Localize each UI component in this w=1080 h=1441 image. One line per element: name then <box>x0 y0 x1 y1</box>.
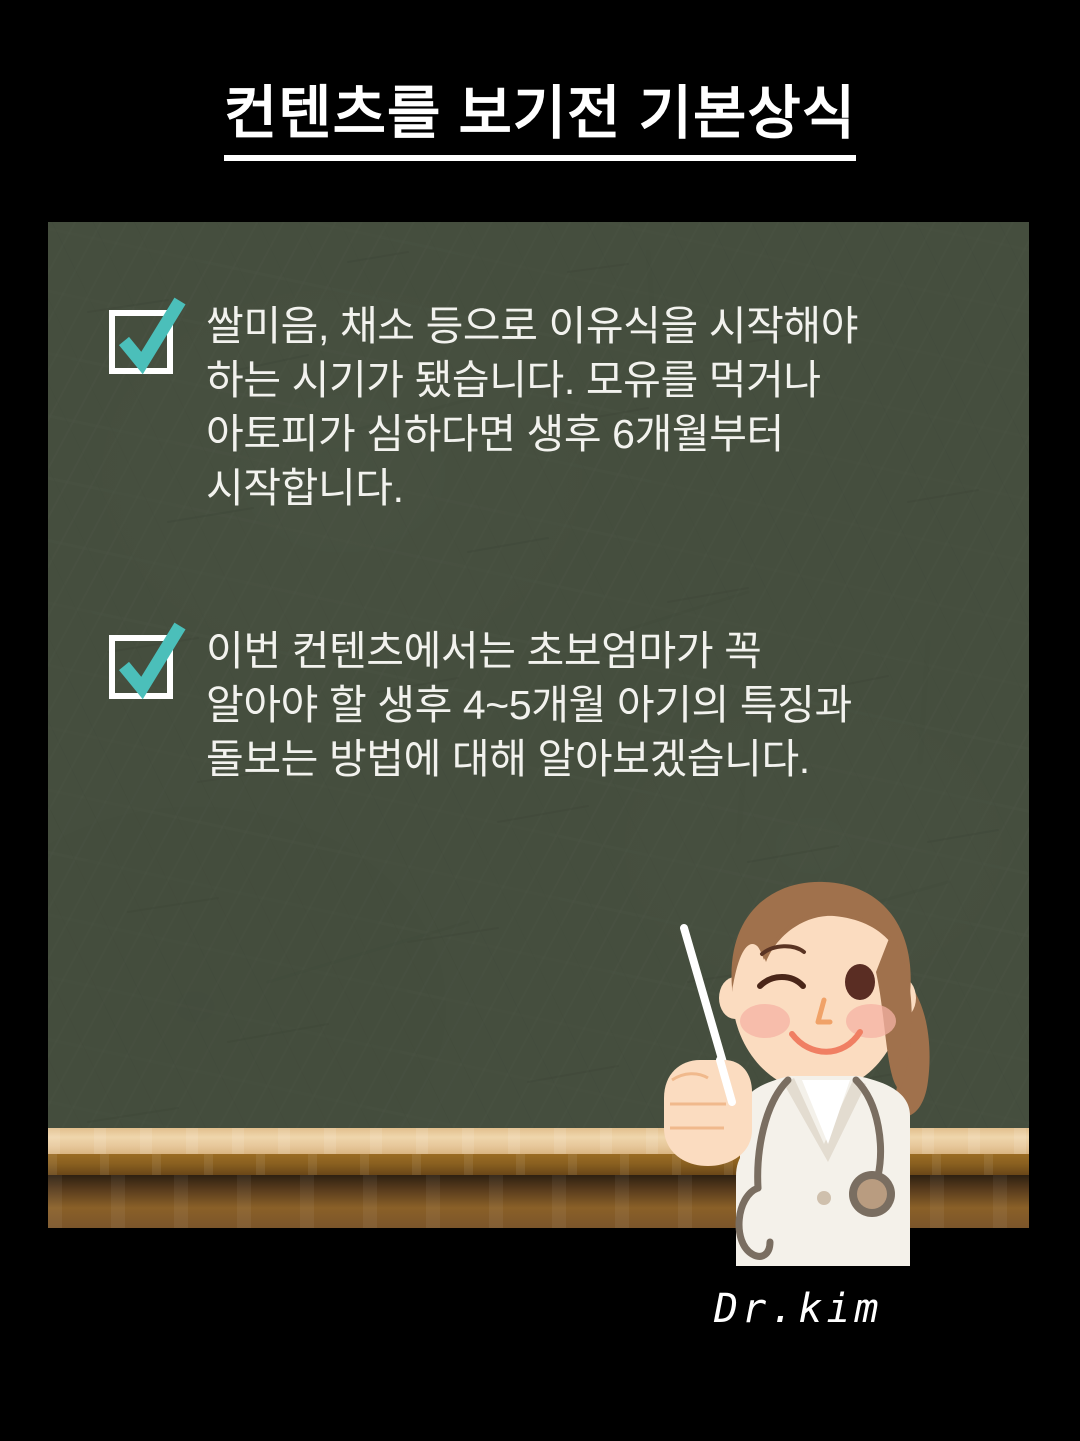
page-title-container: 컨텐츠를 보기전 기본상식 <box>0 84 1080 161</box>
list-item-text: 이번 컨텐츠에서는 초보엄마가 꼭 알아야 할 생후 4~5개월 아기의 특징과… <box>206 622 852 786</box>
eye-right <box>845 964 875 1000</box>
signature: Dr.kim <box>714 1274 944 1342</box>
doctor-character <box>628 876 958 1266</box>
stethoscope-diaphragm <box>857 1179 887 1209</box>
blush-right <box>846 1004 896 1038</box>
pointer-stick <box>684 928 724 1066</box>
blush-left <box>740 1004 790 1038</box>
checkbox-checked-icon <box>108 303 186 375</box>
coat-button <box>817 1191 831 1205</box>
list-item: 이번 컨텐츠에서는 초보엄마가 꼭 알아야 할 생후 4~5개월 아기의 특징과… <box>108 622 852 786</box>
checkbox-checked-icon <box>108 628 186 700</box>
signature-text: Dr.kim <box>713 1286 883 1332</box>
list-item-text: 쌀미음, 채소 등으로 이유식을 시작해야 하는 시기가 됐습니다. 모유를 먹… <box>206 297 858 515</box>
page-title: 컨텐츠를 보기전 기본상식 <box>224 84 856 161</box>
poster-canvas: 컨텐츠를 보기전 기본상식 <box>0 0 1080 1441</box>
list-item: 쌀미음, 채소 등으로 이유식을 시작해야 하는 시기가 됐습니다. 모유를 먹… <box>108 297 858 515</box>
